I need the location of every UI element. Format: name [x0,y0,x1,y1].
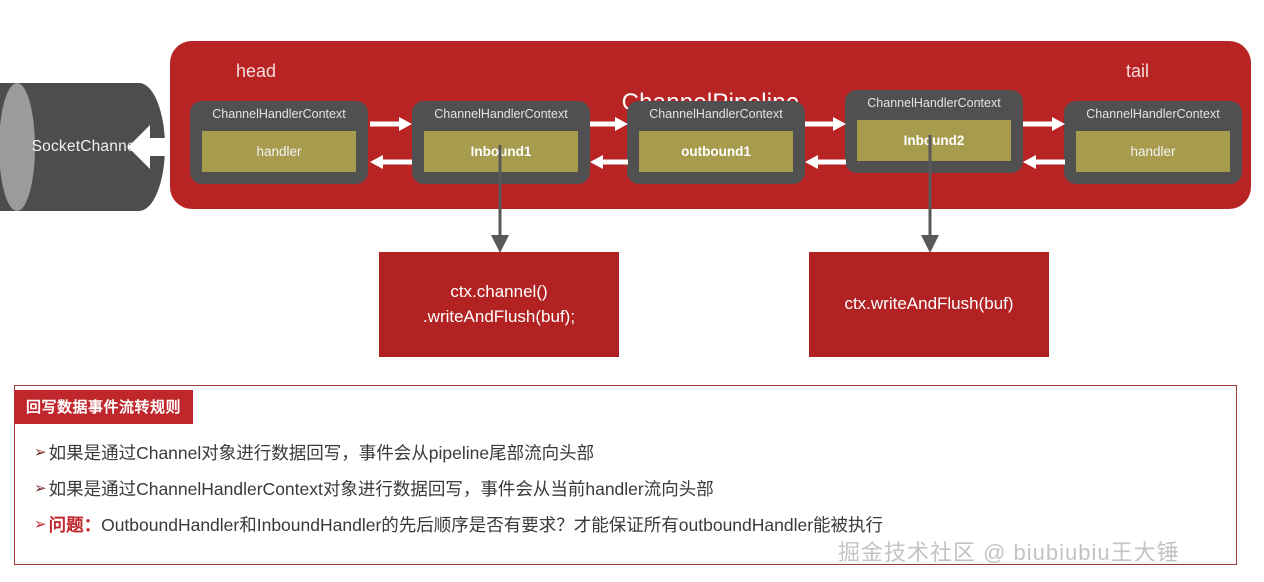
context-title: ChannelHandlerContext [1064,107,1242,121]
bullet-arrow-icon: ➢ [34,443,47,463]
callout-line-2: .writeAndFlush(buf); [423,305,575,330]
callout-line-1: ctx.channel() [423,280,575,305]
list-item: ➢ 问题： OutboundHandler和InboundHandler的先后顺… [34,515,1224,537]
watermark: 掘金技术社区 @ biubiubiu王大锤 [838,535,1180,567]
context-title: ChannelHandlerContext [412,107,590,121]
context-title: ChannelHandlerContext [845,96,1023,110]
context-title: ChannelHandlerContext [190,107,368,121]
rule-text: OutboundHandler和InboundHandler的先后顺序是否有要求… [101,515,883,537]
list-item: ➢ 如果是通过ChannelHandlerContext对象进行数据回写，事件会… [34,479,1224,501]
connector-inbound1-to-callout [487,145,513,255]
rule-text: 如果是通过ChannelHandlerContext对象进行数据回写，事件会从当… [49,479,714,501]
handler-box-tail[interactable]: handler [1076,131,1230,172]
flow-arrow-right-3 [805,112,848,174]
diagram-canvas: SocketChannel ChannelPipeline head tail … [0,0,1264,582]
channel-handler-context-tail[interactable]: ChannelHandlerContext handler [1064,101,1242,184]
channel-handler-context-head[interactable]: ChannelHandlerContext handler [190,101,368,184]
flow-arrow-right-1 [368,112,414,174]
rules-panel-badge: 回写数据事件流转规则 [14,390,193,424]
context-title: ChannelHandlerContext [627,107,805,121]
callout-line-1: ctx.writeAndFlush(buf) [844,292,1013,317]
handler-box-head[interactable]: handler [202,131,356,172]
flow-arrow-right-4 [1023,112,1067,174]
callout-channel-writeandflush: ctx.channel() .writeAndFlush(buf); [379,252,619,357]
rule-label: 问题： [49,515,102,537]
head-label: head [236,61,276,82]
tail-label: tail [1126,61,1149,82]
bullet-arrow-icon: ➢ [34,479,47,499]
bullet-arrow-icon: ➢ [34,515,47,535]
channel-handler-context-outbound1[interactable]: ChannelHandlerContext outbound1 [627,101,805,184]
rule-text: 如果是通过Channel对象进行数据回写，事件会从pipeline尾部流向头部 [49,443,595,465]
list-item: ➢ 如果是通过Channel对象进行数据回写，事件会从pipeline尾部流向头… [34,443,1224,465]
flow-arrow-right-2 [590,112,630,174]
callout-ctx-writeandflush: ctx.writeAndFlush(buf) [809,252,1049,357]
connector-inbound2-to-callout [917,135,943,255]
handler-box-outbound1[interactable]: outbound1 [639,131,793,172]
